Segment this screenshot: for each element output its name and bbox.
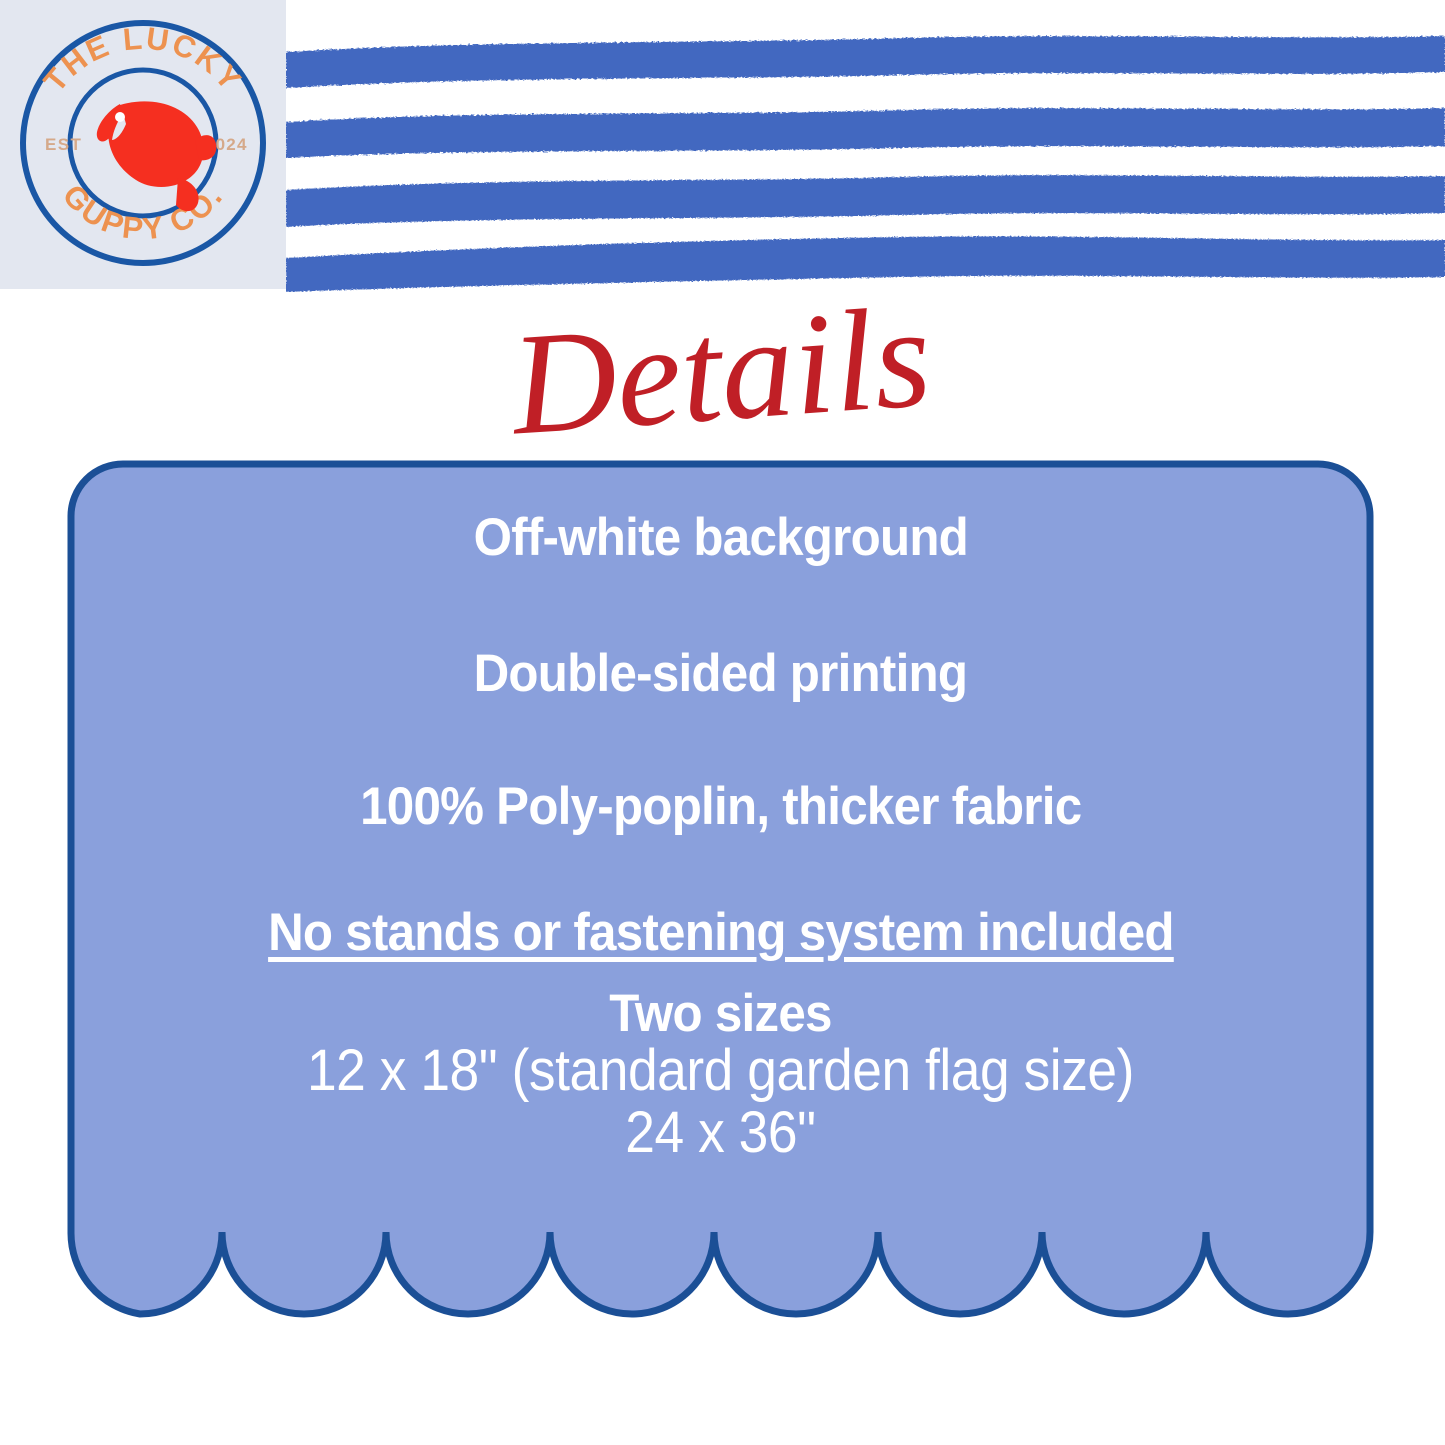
detail-bullet-1: Double-sided printing	[474, 646, 968, 702]
detail-bullet-2: 100% Poly-poplin, thicker fabric	[360, 779, 1081, 835]
size-option-0: 12 x 18" (standard garden flag size)	[307, 1040, 1134, 1103]
detail-bullet-0: Off-white background	[473, 510, 967, 566]
page-title-text: Details	[504, 279, 935, 466]
size-option-1: 24 x 36"	[307, 1102, 1134, 1165]
details-card: Off-white background Double-sided printi…	[67, 460, 1374, 1385]
product-details-graphic: THE LUCKY GUPPY CO. EST 2024 Details	[0, 0, 1445, 1445]
sizes-heading: Two sizes	[303, 987, 1139, 1040]
brand-logo-tile: THE LUCKY GUPPY CO. EST 2024	[0, 0, 286, 289]
logo-est-label: EST	[45, 135, 82, 154]
page-title: Details	[0, 286, 1445, 461]
detail-bullet-3: No stands or fastening system included	[268, 905, 1174, 961]
sizes-block: Two sizes 12 x 18" (standard garden flag…	[271, 987, 1170, 1165]
